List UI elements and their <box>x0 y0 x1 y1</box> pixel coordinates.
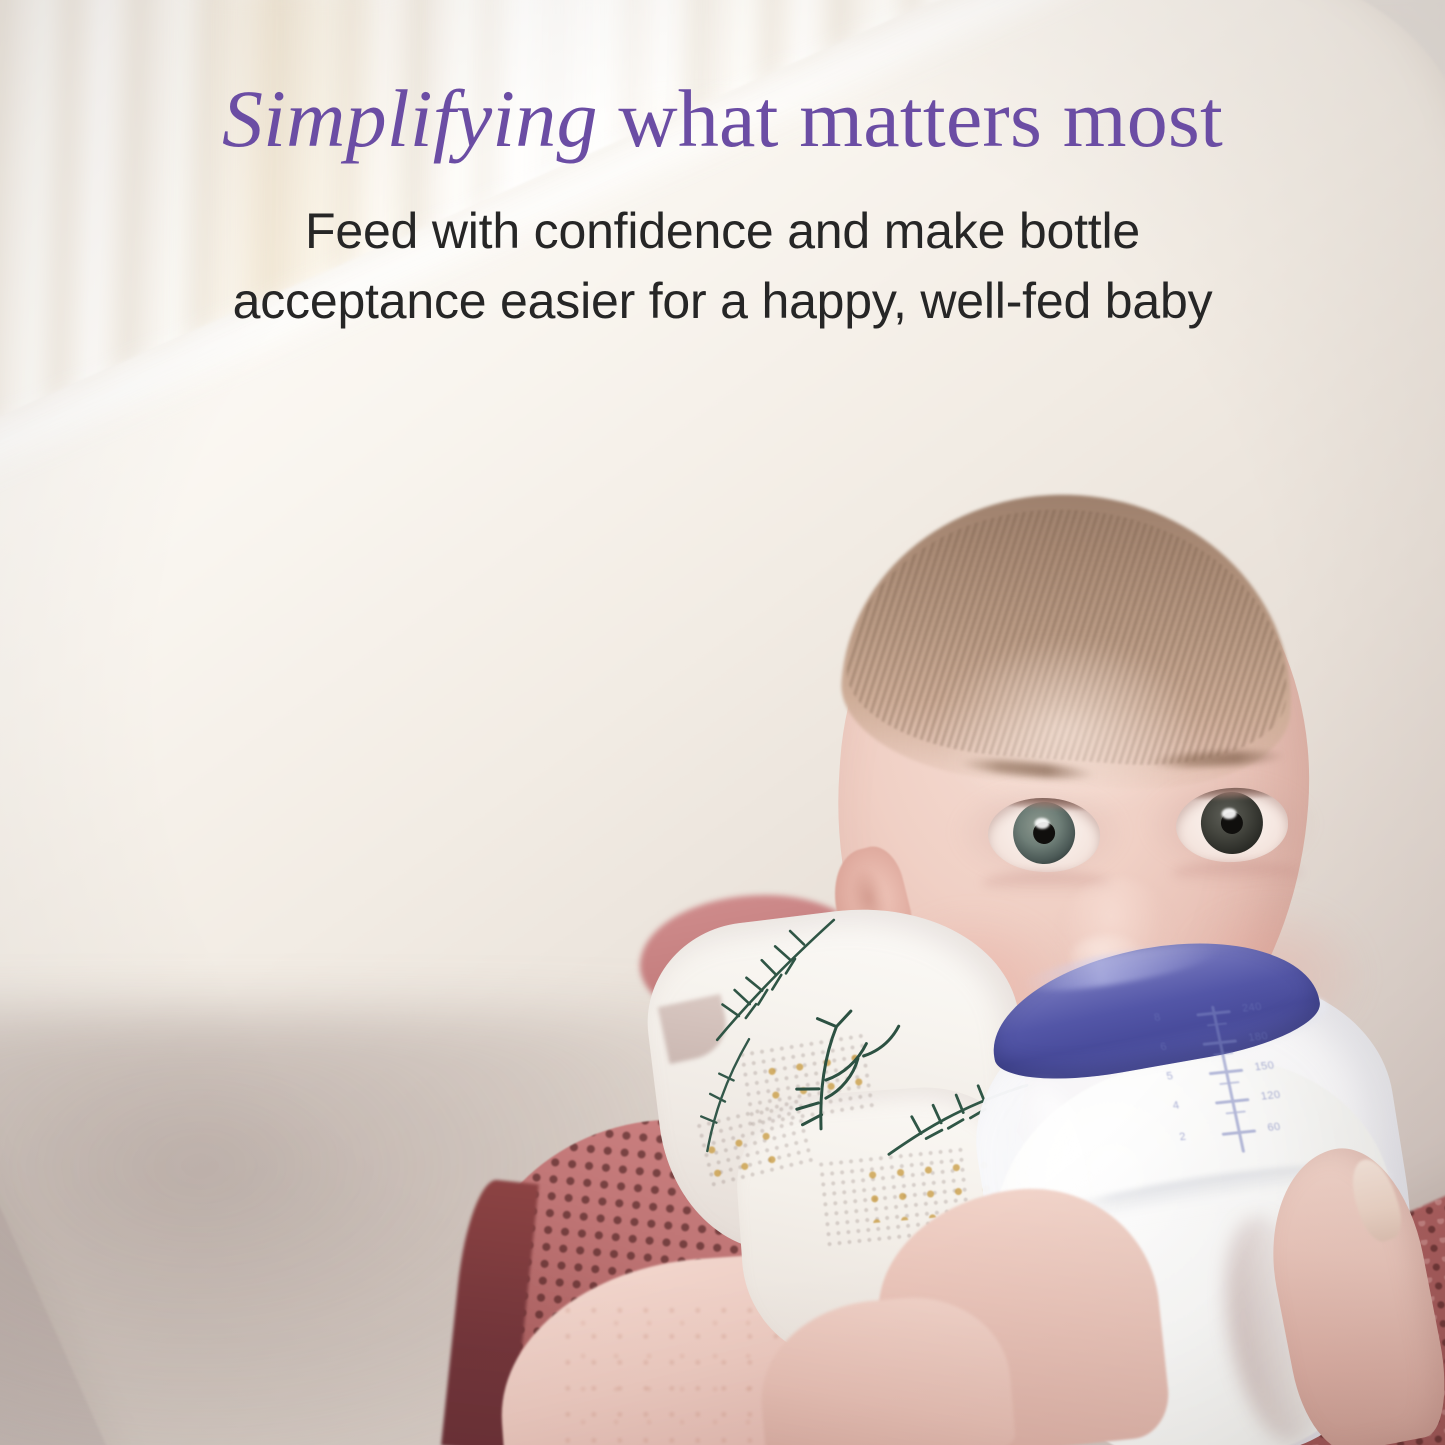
banner-canvas: 8 6 5 4 2 240 180 150 120 60 Simplifying… <box>0 0 1445 1445</box>
baby-iris-right <box>1200 791 1264 855</box>
scale-label-oz: 5 <box>1165 1070 1174 1082</box>
scale-label-ml: 120 <box>1260 1089 1282 1103</box>
scale-label-oz: 2 <box>1178 1131 1187 1143</box>
headline-emphasis: Simplifying <box>222 73 598 164</box>
scale-label-ml: 60 <box>1266 1121 1282 1134</box>
baby-undereye-right <box>1172 862 1302 884</box>
scale-label-oz: 8 <box>1153 1011 1162 1023</box>
baby-eyelash-right <box>1175 786 1290 802</box>
scale-label-oz: 4 <box>1172 1099 1181 1111</box>
scale-label-ml: 240 <box>1241 1001 1263 1015</box>
scale-label-ml: 180 <box>1247 1030 1269 1044</box>
subtitle-line-2: acceptance easier for a happy, well-fed … <box>0 266 1445 336</box>
scale-label-ml: 150 <box>1253 1060 1275 1074</box>
scale-label-oz: 6 <box>1159 1041 1168 1053</box>
subtitle-line-1: Feed with confidence and make bottle <box>0 196 1445 266</box>
page-title: Simplifying what matters most <box>0 78 1445 160</box>
page-subtitle: Feed with confidence and make bottle acc… <box>0 196 1445 336</box>
headline-rest: what matters most <box>598 73 1223 164</box>
